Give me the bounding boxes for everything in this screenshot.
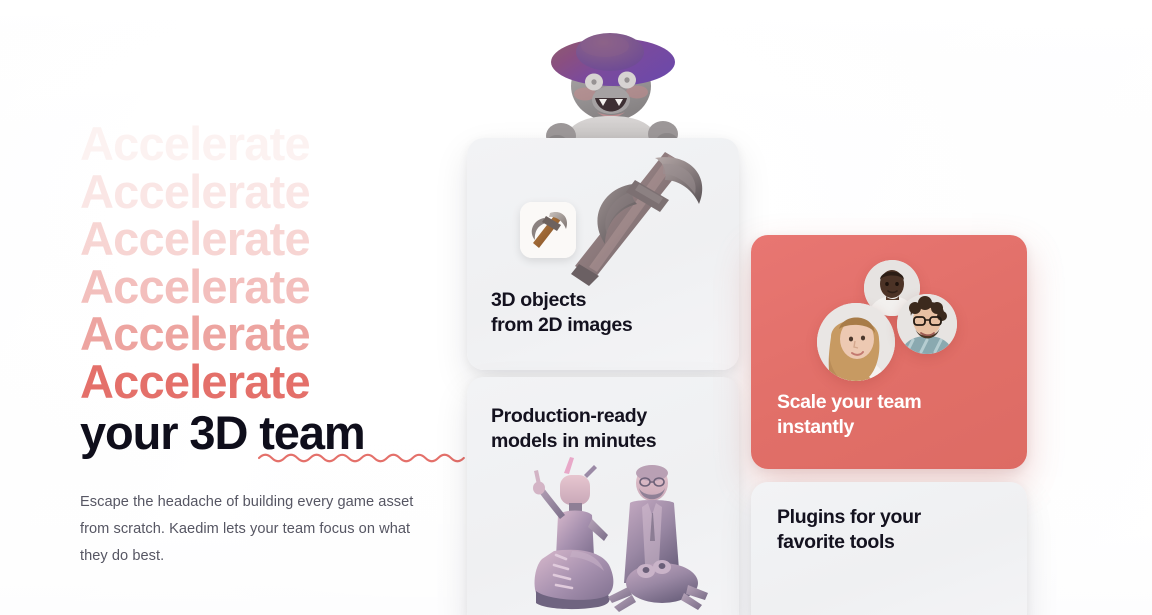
purple-3d-models-icon (512, 455, 727, 615)
accelerate-echo-3: Accelerate (80, 215, 440, 263)
hero-section: Accelerate Accelerate Accelerate Acceler… (80, 120, 440, 570)
accelerate-echo-5: Accelerate (80, 310, 440, 358)
headline-wrapper: your 3D team (80, 406, 440, 460)
card-3d-objects[interactable]: 3D objects from 2D images (467, 138, 739, 370)
avatar (817, 303, 895, 381)
accelerate-echo-2: Accelerate (80, 168, 440, 216)
card-plugins[interactable]: Plugins for your favorite tools (751, 482, 1027, 615)
card-title: Scale your team instantly (777, 390, 921, 440)
card-scale-team[interactable]: Scale your team instantly (751, 235, 1027, 469)
accelerate-echo-4: Accelerate (80, 263, 440, 311)
2d-reference-thumbnail (520, 202, 576, 258)
mascot-character-icon (527, 24, 707, 146)
accelerate-headline-word: Accelerate (80, 358, 440, 406)
card-title: Plugins for your favorite tools (777, 505, 921, 555)
card-title: 3D objects from 2D images (491, 288, 632, 338)
page-title: your 3D team (80, 406, 440, 460)
card-production-ready[interactable]: Production-ready models in minutes (467, 377, 739, 615)
accelerate-echo-1: Accelerate (80, 120, 440, 168)
hero-subcopy: Escape the headache of building every ga… (80, 489, 425, 570)
card-title: Production-ready models in minutes (491, 404, 656, 454)
avatar (897, 294, 957, 354)
